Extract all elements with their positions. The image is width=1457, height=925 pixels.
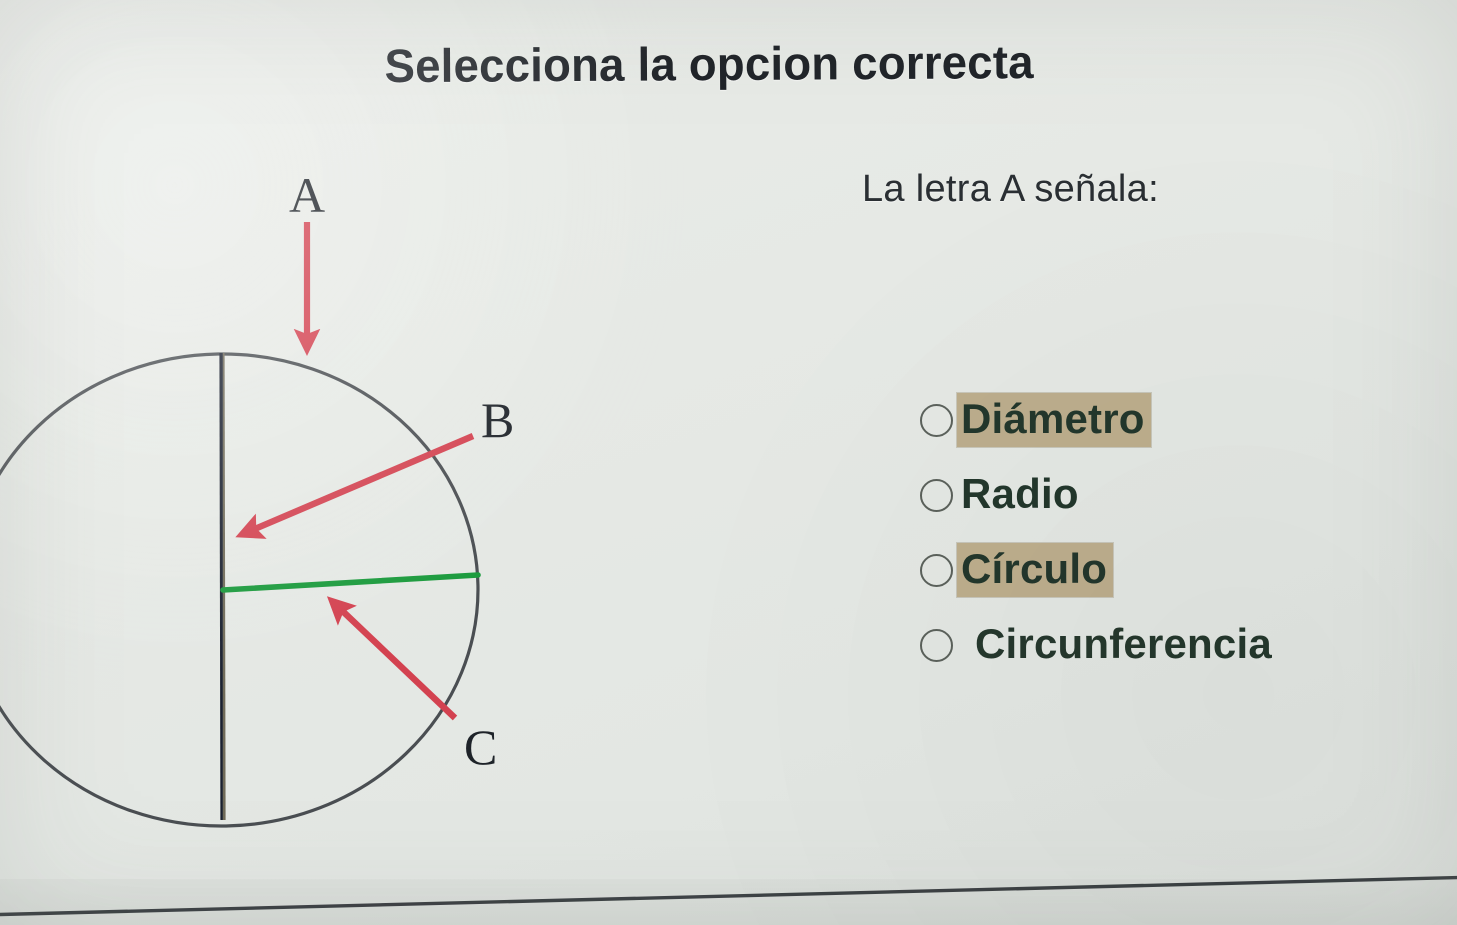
option-radio[interactable]: Radio [920,465,1440,525]
page-edge-shadow [0,879,1457,925]
option-circulo[interactable]: Círculo [920,540,1440,600]
arrow-c [333,602,455,718]
radio-button-radio[interactable] [920,479,953,512]
arrow-b [243,436,473,534]
option-label-circunferencia: Circunferencia [971,618,1278,672]
quiz-screenshot: Selecciona la opcion correcta [0,0,1457,925]
option-label-radio: Radio [957,468,1085,522]
label-b: B [481,392,514,448]
label-c: C [464,719,497,775]
radio-button-circunferencia[interactable] [920,629,953,662]
option-label-diametro: Diámetro [957,393,1151,447]
page-title: Selecciona la opcion correcta [22,32,1436,96]
radius-line-green [223,575,478,590]
page-title-text: Selecciona la opcion correcta [384,34,1034,93]
circle-diagram: A B C [0,150,620,870]
diameter-line [222,353,223,820]
label-a: A [289,167,325,223]
option-diametro[interactable]: Diámetro [920,390,1440,450]
radio-button-circulo[interactable] [920,554,953,587]
radio-button-diametro[interactable] [920,404,953,437]
option-label-circulo: Círculo [957,543,1113,597]
option-circunferencia[interactable]: Circunferencia [920,615,1440,675]
options-list: Diámetro Radio Círculo Circunferencia [920,390,1440,690]
question-prompt: La letra A señala: [862,168,1159,211]
